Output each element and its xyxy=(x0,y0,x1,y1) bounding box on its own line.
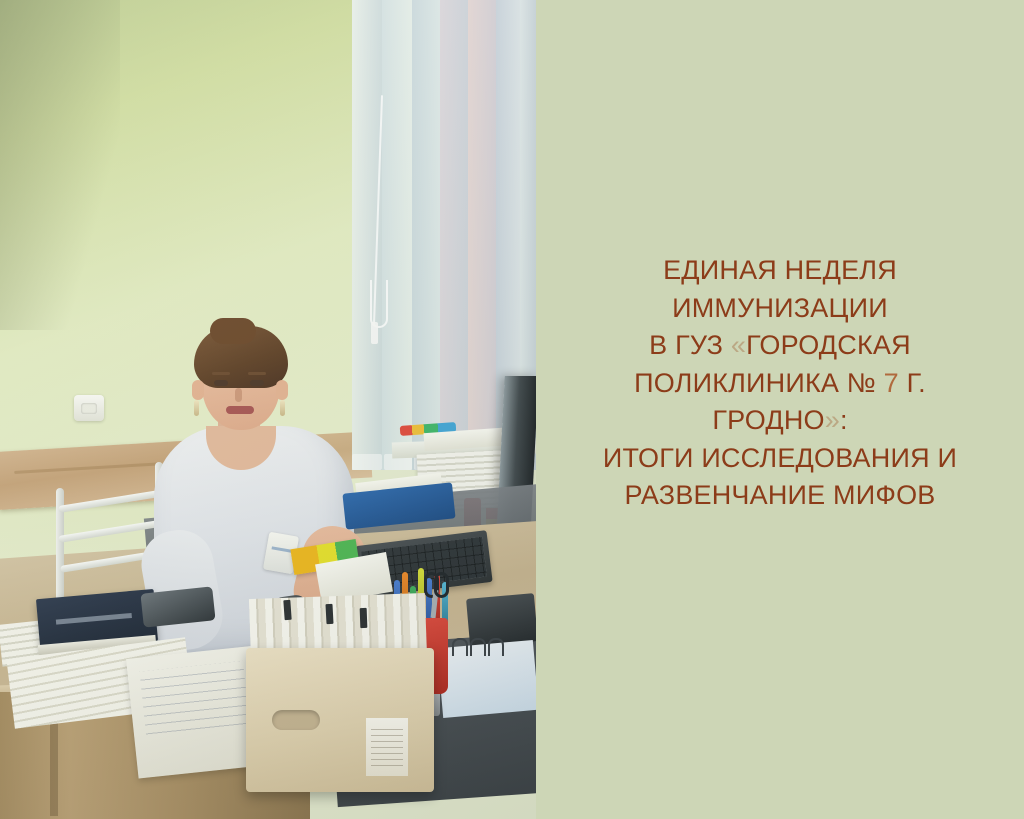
poster-root: ЕДИНАЯ НЕДЕЛЯ ИММУНИЗАЦИИ В ГУЗ «ГОРОДСК… xyxy=(0,0,1024,819)
hair-bun xyxy=(210,318,256,344)
guillemet-close: » xyxy=(825,405,840,435)
blind-cord-weight[interactable] xyxy=(371,322,378,344)
headline-line-5-c: : xyxy=(840,405,848,435)
blind-slat xyxy=(412,0,440,470)
blind-slat xyxy=(440,0,468,470)
calendar-ring xyxy=(452,638,468,656)
earring-left xyxy=(194,400,199,416)
headline-line-4: ПОЛИКЛИНИКА № 7 Г. xyxy=(536,365,1024,403)
blind-slat xyxy=(382,0,412,470)
calendar-ring xyxy=(488,638,504,656)
scissors-blade xyxy=(431,590,439,618)
blind-pull-cord-loop[interactable] xyxy=(370,280,388,328)
poster-headline: ЕДИНАЯ НЕДЕЛЯ ИММУНИЗАЦИИ В ГУЗ «ГОРОДСК… xyxy=(536,252,1024,515)
headline-line-5: ГРОДНО»: xyxy=(536,402,1024,440)
ear-left xyxy=(192,380,204,400)
headline-line-2: ИММУНИЗАЦИИ xyxy=(536,290,1024,328)
scissors xyxy=(424,572,446,618)
headline-line-4-c: Г. xyxy=(899,368,926,398)
guillemet-open: « xyxy=(731,330,746,360)
ear-right xyxy=(276,380,288,400)
notebook-handwriting xyxy=(139,661,250,741)
binder-clip xyxy=(283,600,291,620)
eye-left xyxy=(214,380,228,386)
doctor-office-photo xyxy=(0,0,536,819)
calendar-rings xyxy=(452,638,508,654)
eye-right xyxy=(250,380,264,386)
binder-clip xyxy=(325,604,333,624)
headline-line-7: РАЗВЕНЧАНИЕ МИФОВ xyxy=(536,477,1024,515)
headline-line-4-a: ПОЛИКЛИНИКА № xyxy=(634,368,884,398)
wall-shadow xyxy=(0,0,120,330)
earring-right xyxy=(280,400,285,416)
headline-line-3-c: ГОРОДСКАЯ xyxy=(746,330,911,360)
clinic-number: 7 xyxy=(884,368,899,398)
beige-file-box xyxy=(246,648,434,792)
eyebrow-left xyxy=(212,372,230,375)
headline-line-3: В ГУЗ «ГОРОДСКАЯ xyxy=(536,327,1024,365)
mouth xyxy=(226,406,254,414)
headline-line-6: ИТОГИ ИССЛЕДОВАНИЯ И xyxy=(536,440,1024,478)
nose xyxy=(235,388,242,402)
text-panel: ЕДИНАЯ НЕДЕЛЯ ИММУНИЗАЦИИ В ГУЗ «ГОРОДСК… xyxy=(536,0,1024,819)
eyebrow-right xyxy=(248,372,266,375)
calendar-ring xyxy=(470,638,486,656)
headline-line-1: ЕДИНАЯ НЕДЕЛЯ xyxy=(536,252,1024,290)
file-box-handle[interactable] xyxy=(272,710,320,730)
electrical-outlet-icon xyxy=(74,395,104,421)
headline-line-5-a: ГРОДНО xyxy=(712,405,824,435)
headline-line-3-a: В ГУЗ xyxy=(649,330,731,360)
blind-slat xyxy=(468,0,496,470)
binder-clip xyxy=(360,608,368,628)
file-box-label xyxy=(366,718,408,776)
